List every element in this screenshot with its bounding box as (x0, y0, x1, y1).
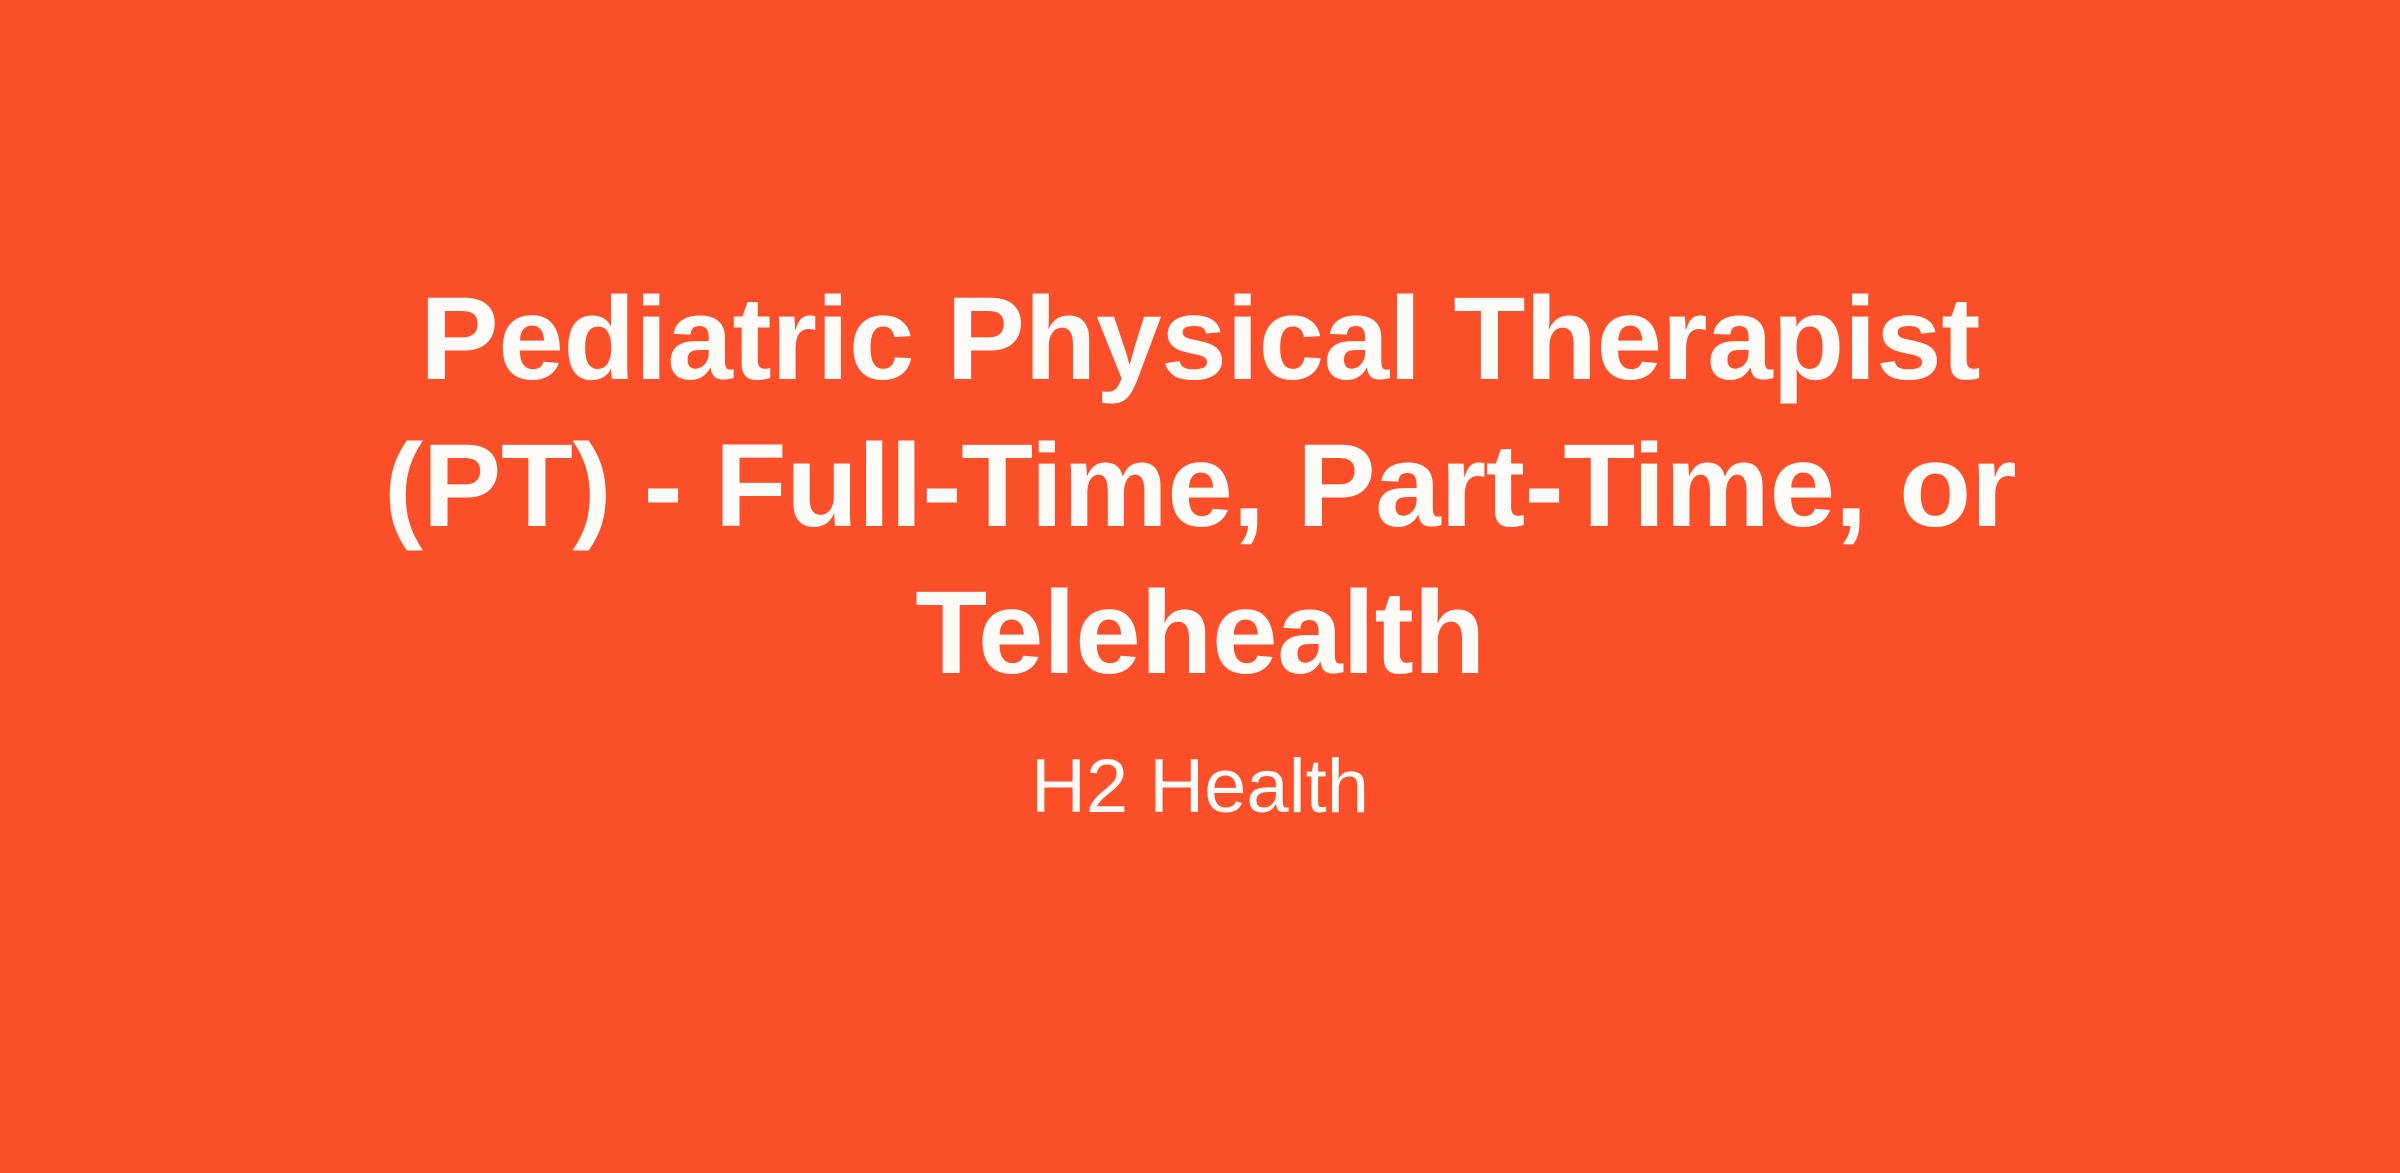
company-name: H2 Health (1031, 743, 1369, 831)
job-title: Pediatric Physical Therapist (PT) - Full… (350, 266, 2050, 707)
job-card-content: Pediatric Physical Therapist (PT) - Full… (340, 266, 2060, 831)
job-posting-card: Pediatric Physical Therapist (PT) - Full… (0, 0, 2400, 1173)
